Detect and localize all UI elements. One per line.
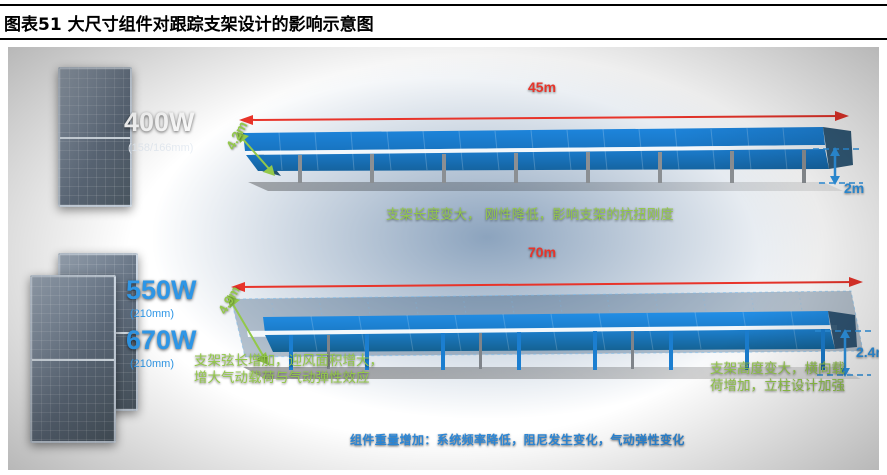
- page-title: 图表51 大尺寸组件对跟踪支架设计的影响示意图: [0, 10, 374, 35]
- figure-vignette: [8, 47, 879, 470]
- figure-canvas: 400W (158/166mm) 550W (210mm) 670W (210m…: [8, 47, 879, 470]
- figure-title-bar: 图表51 大尺寸组件对跟踪支架设计的影响示意图: [0, 4, 887, 40]
- figure-page: 图表51 大尺寸组件对跟踪支架设计的影响示意图 400W (158/166mm)…: [0, 0, 887, 475]
